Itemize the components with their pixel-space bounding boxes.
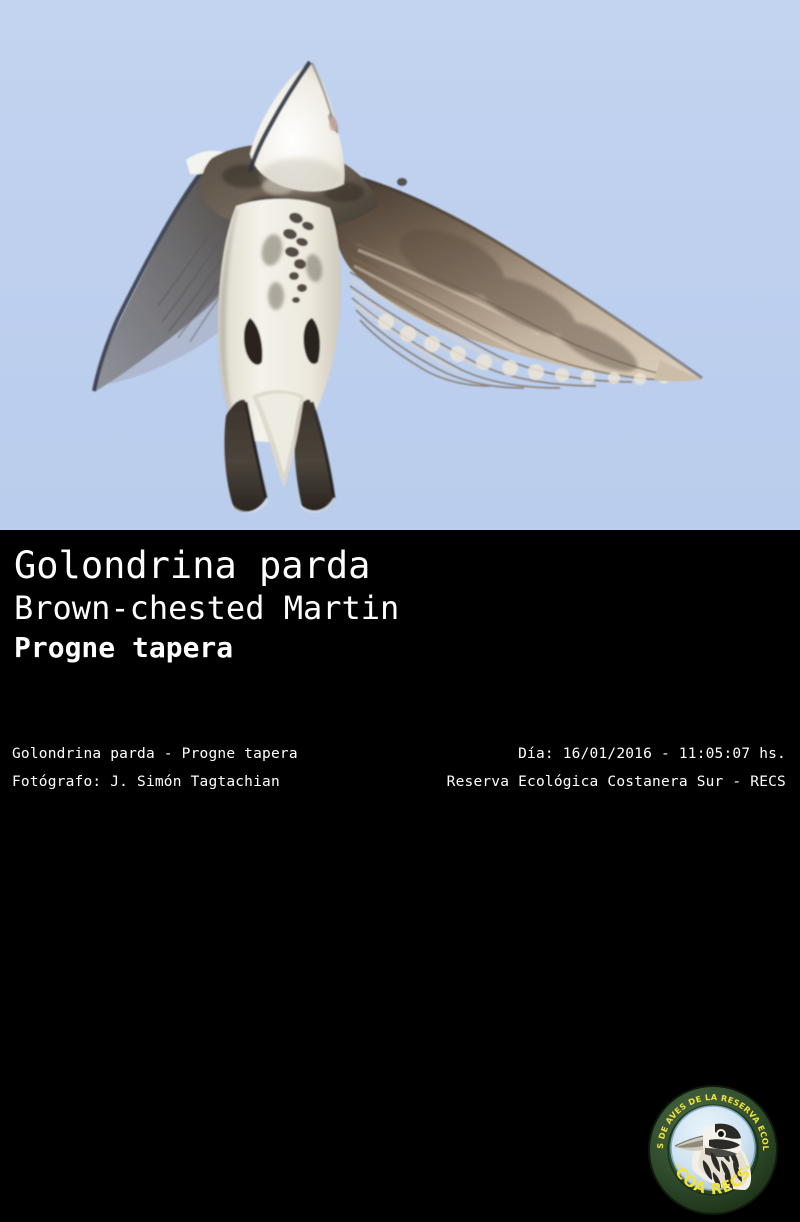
footer-species-line: Golondrina parda - Progne tapera: [12, 746, 298, 762]
footer-photographer-line: Fotógrafo: J. Simón Tagtachian: [12, 774, 280, 790]
footer-date-line: Día: 16/01/2016 - 11:05:07 hs.: [518, 746, 786, 762]
coa-recs-logo: CLUB DE OBSERVADORES DE AVES DE LA RESER…: [645, 1082, 781, 1218]
bird-photo: [0, 0, 800, 530]
caption-band: Golondrina parda Brown-chested Martin Pr…: [0, 530, 800, 730]
footer-bar: Golondrina parda - Progne tapera Fotógra…: [0, 730, 800, 800]
footer-location-line: Reserva Ecológica Costanera Sur - RECS: [447, 774, 786, 790]
common-name-english: Brown-chested Martin: [14, 588, 614, 628]
species-names: Golondrina parda Brown-chested Martin Pr…: [14, 544, 614, 666]
scientific-name: Progne tapera: [14, 630, 614, 666]
photo-card: Golondrina parda Brown-chested Martin Pr…: [0, 0, 800, 800]
bird-illustration: [0, 0, 800, 530]
common-name-spanish: Golondrina parda: [14, 544, 614, 588]
